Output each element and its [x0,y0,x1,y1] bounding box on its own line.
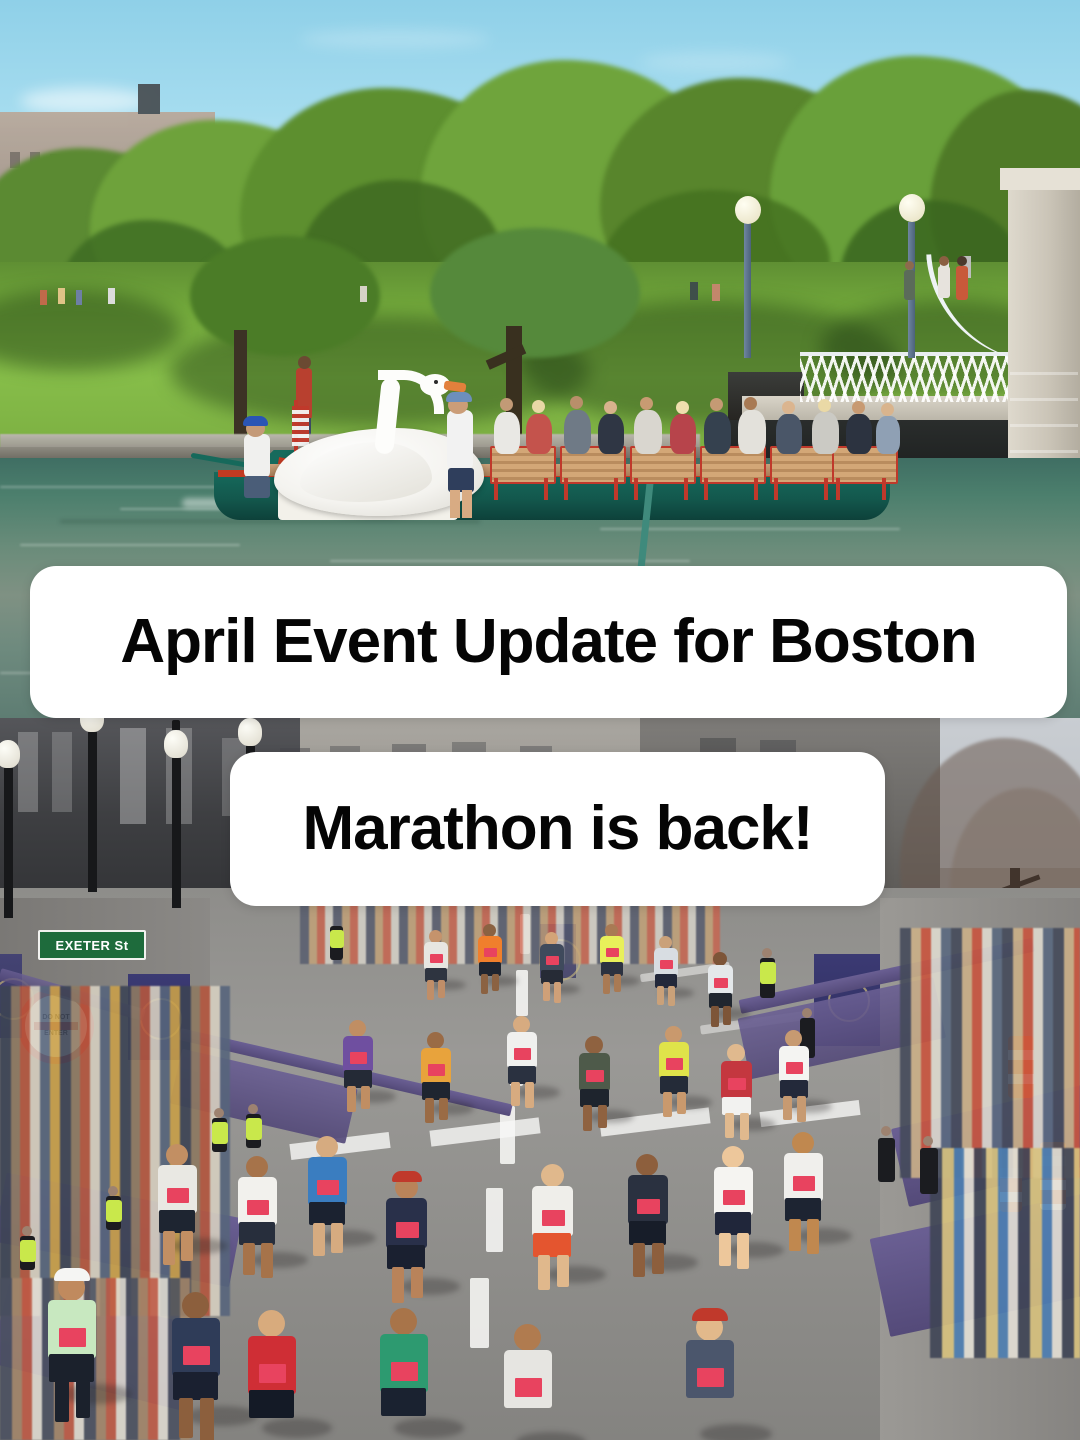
boat-driver-leg [462,490,472,518]
hi-vis-vest [212,1122,228,1144]
boat-pedaller [244,434,270,478]
boat-driver-leg [450,490,460,518]
lamp-post [88,732,97,892]
spectator-crowd-right-lower [930,1148,1080,1358]
boat-passenger [598,414,624,454]
boat-pedaller-shorts [244,476,270,498]
us-flag [292,406,309,446]
bridge-pier [1008,168,1080,468]
bridge-pier-cap [1000,168,1080,190]
boat-passenger [704,412,731,454]
boat-passenger [634,410,662,454]
bystander-head [298,356,311,369]
hi-vis-vest [20,1240,36,1262]
caption-box-subtitle: Marathon is back! [230,752,885,906]
distant-person [712,284,720,301]
lamp-post [172,758,181,908]
lamp-post [744,222,751,358]
police-officer [920,1148,938,1194]
boat-driver-shorts [448,468,474,492]
lamp-post [4,768,13,918]
boat-passenger [670,414,696,454]
boat-passenger [564,410,591,454]
boat-passenger [812,412,839,454]
lamp-globe [238,718,262,746]
hi-vis-vest [330,930,344,948]
boat-passenger [494,412,520,454]
bridge-pedestrian [956,266,968,300]
distant-person [76,290,82,305]
boat-passenger [738,410,766,454]
police-officer [878,1138,895,1182]
lamp-globe [0,740,20,768]
swan-eye [434,380,438,384]
lawn-tree [190,236,380,356]
hi-vis-vest [106,1200,122,1222]
lawn-tree [430,228,640,358]
distant-person [690,282,698,300]
boat-driver-cap [446,392,472,402]
distant-person [360,286,367,302]
bridge-pedestrian-head [905,261,914,270]
lamp-globe [735,196,761,224]
lamp-globe [899,194,925,222]
boat-driver [447,410,473,470]
boat-passenger [846,414,872,454]
bridge-railing [800,352,1040,402]
lamp-globe [164,730,188,758]
bridge-pedestrian-head [957,256,967,266]
distant-person [58,288,65,304]
boat-passenger [776,414,802,454]
bridge-pedestrian-head [939,256,949,266]
boat-pedaller-cap [243,416,268,426]
caption-subtitle-text: Marathon is back! [302,798,812,860]
hi-vis-vest [760,962,776,984]
distant-person [40,290,47,305]
swan-boat [182,428,912,538]
distant-person [108,288,115,304]
caption-box-title: April Event Update for Boston [30,566,1067,718]
bridge-pedestrian [904,270,915,300]
poster: EXETER St DO NOT ENTER [0,0,1080,1440]
caption-title-text: April Event Update for Boston [120,611,976,673]
boat-passenger [526,414,552,454]
hi-vis-vest [246,1118,262,1140]
boat-passenger [876,416,900,454]
street-sign-exeter: EXETER St [38,930,146,960]
bridge-pedestrian [938,266,950,298]
